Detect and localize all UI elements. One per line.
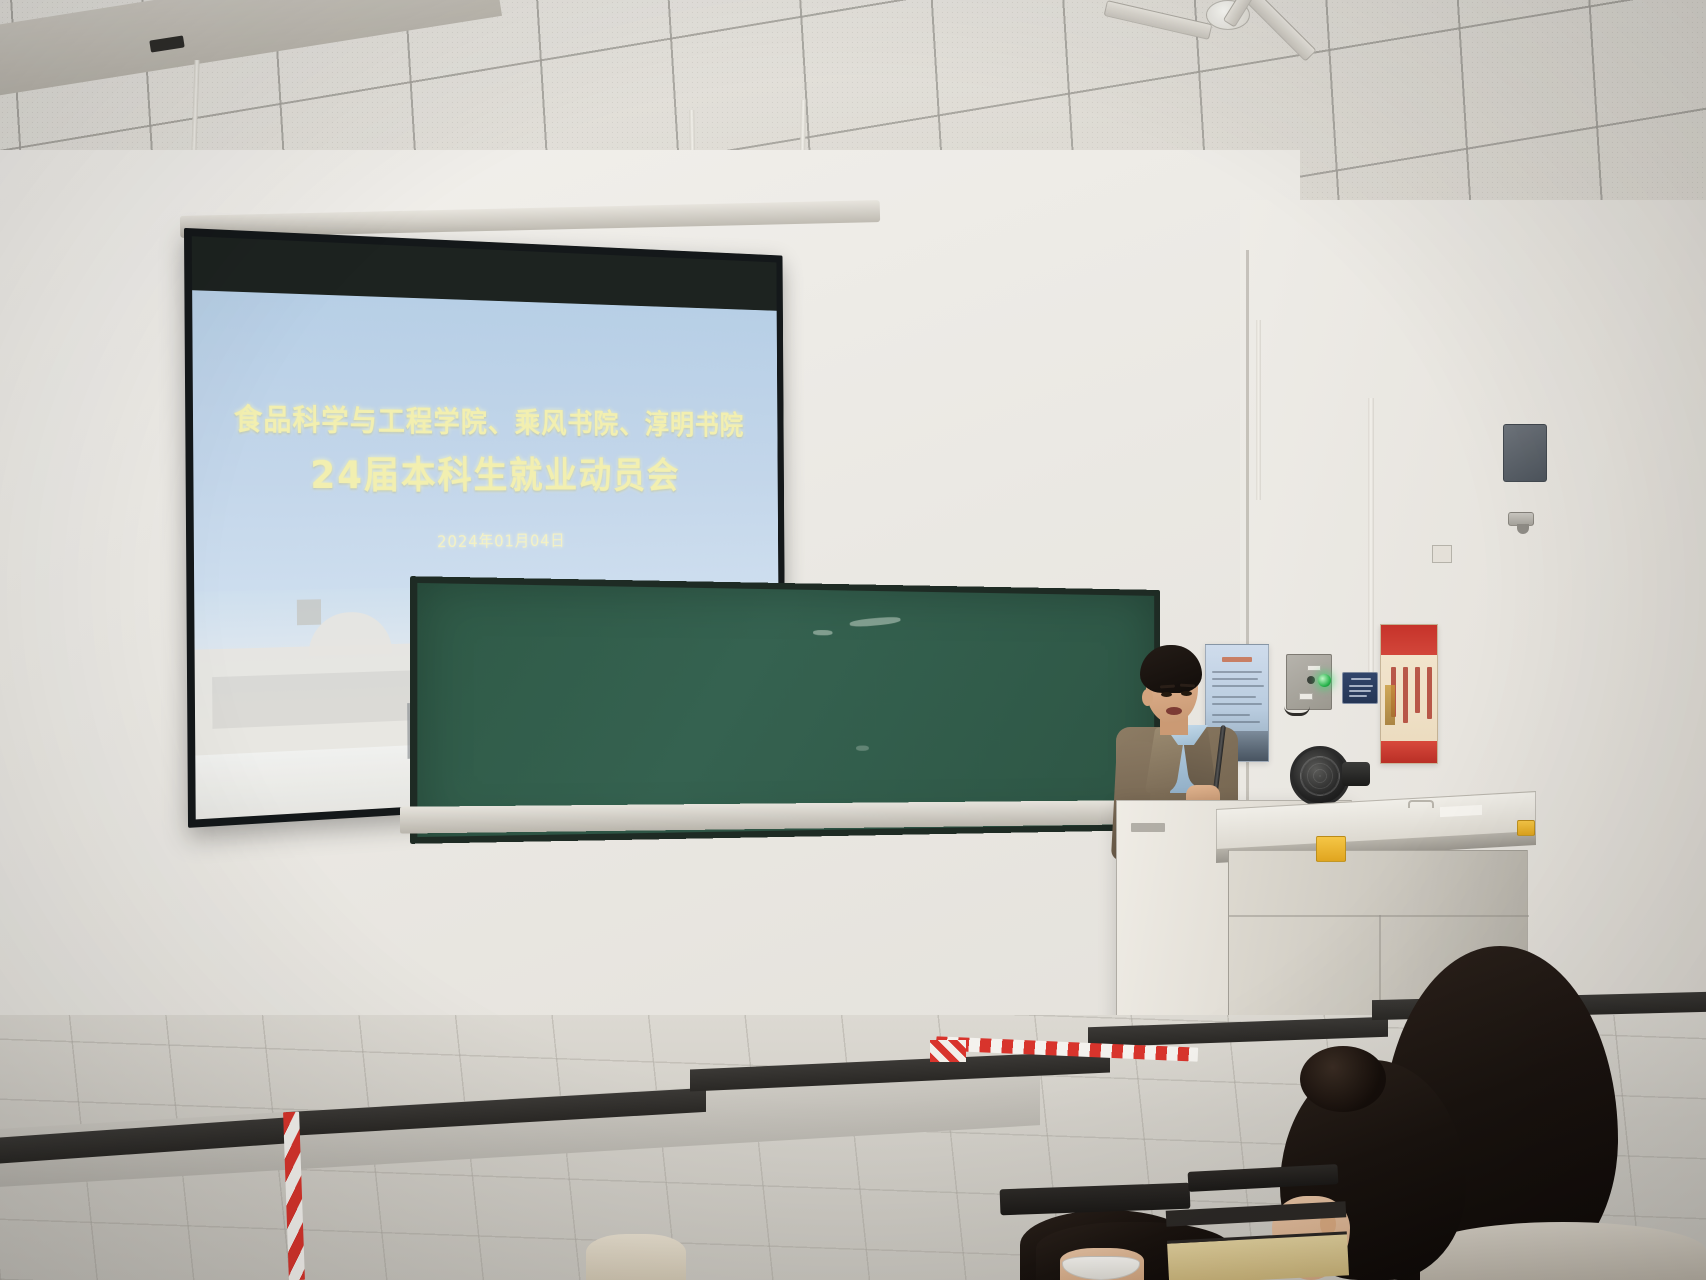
- presenter-eye: [1161, 692, 1172, 697]
- control-panel-indicator-on: [1318, 674, 1331, 687]
- chalk-smudge: [813, 630, 832, 635]
- fan-blade: [1104, 0, 1213, 40]
- floor-marker-tape: [930, 1040, 966, 1062]
- control-panel[interactable]: [1286, 654, 1332, 710]
- student-far-left: [586, 1234, 686, 1280]
- student-desk-row: [1167, 1231, 1349, 1280]
- student-front-right-shoulder: [1420, 1222, 1706, 1280]
- slide-title-line1: 食品科学与工程学院、乘风书院、淳明书院: [193, 394, 778, 443]
- chalk-smudge: [856, 746, 869, 751]
- presenter-eye: [1181, 691, 1192, 696]
- control-panel-label: [1299, 693, 1313, 700]
- ceiling-fan: [1120, 0, 1340, 96]
- notice-poster: [1380, 624, 1438, 764]
- wall-conduit: [1368, 398, 1374, 698]
- wall-speaker: [1503, 424, 1547, 482]
- presenter-mouth: [1166, 707, 1182, 715]
- room-plaque: [1342, 672, 1378, 704]
- chalk-smudge: [849, 616, 900, 628]
- desk-fan-grill: [1300, 756, 1340, 796]
- control-panel-indicator-off: [1307, 676, 1315, 684]
- control-panel-label: [1307, 665, 1321, 671]
- wall-conduit: [1256, 320, 1261, 500]
- poster-red-banner: [1381, 625, 1437, 655]
- presenter-ear: [1142, 689, 1153, 706]
- desk-fan-motor: [1342, 762, 1370, 786]
- slide-date: 2024年01月04日: [194, 526, 778, 555]
- poster-red-footer: [1381, 741, 1437, 763]
- desk-fan[interactable]: [1290, 746, 1350, 806]
- desk-handle[interactable]: [1408, 800, 1434, 808]
- slide-title-line2: 24届本科生就业动员会: [193, 444, 778, 500]
- yellow-desk-clamp: [1517, 820, 1535, 836]
- screenshot-root: 食品科学与工程学院、乘风书院、淳明书院 24届本科生就业动员会 2024年01月…: [0, 0, 1706, 1280]
- wall-junction-box: [1432, 545, 1452, 563]
- yellow-desk-clamp: [1316, 836, 1346, 862]
- lectern-logo: [1131, 823, 1165, 832]
- student-front-middle-bun: [1300, 1046, 1386, 1112]
